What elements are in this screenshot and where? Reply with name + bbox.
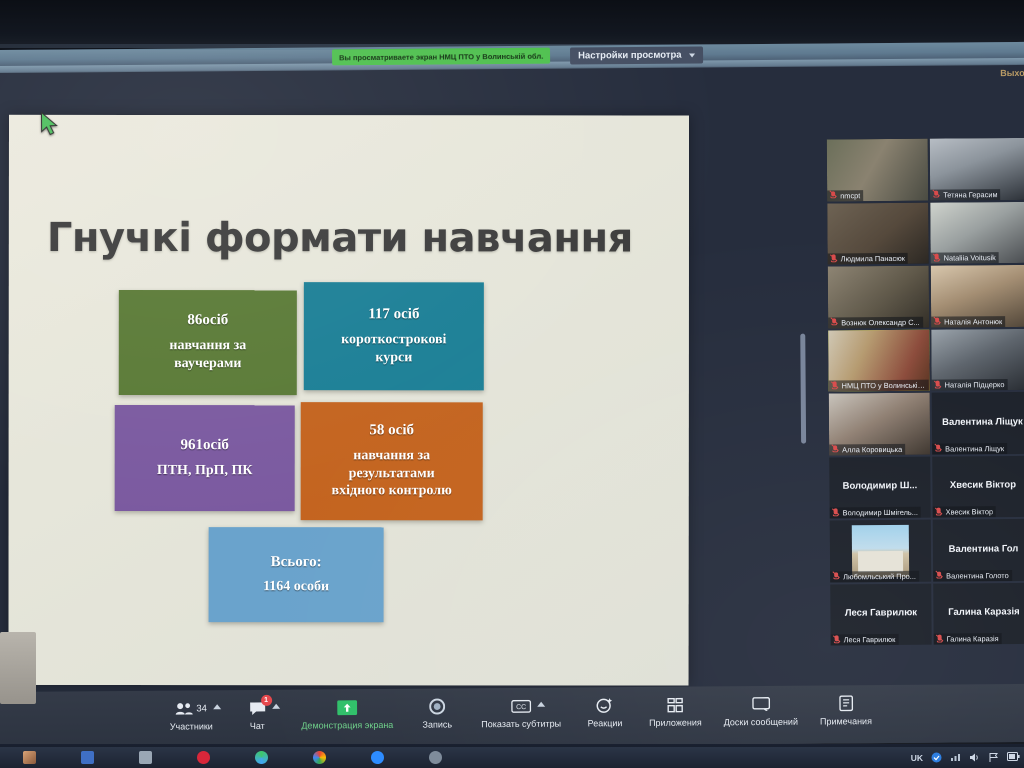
system-tray: UK xyxy=(911,747,1018,768)
participant-tile[interactable]: Валентина ГолВалентина Голото xyxy=(933,519,1024,581)
taskbar-icon-zoom[interactable] xyxy=(348,747,406,768)
toolbar-share-screen-button[interactable]: Демонстрация экрана xyxy=(301,697,393,731)
stat-box-entry-control-number: 58 осіб xyxy=(369,422,414,439)
stat-box-entry-control-label: навчання зарезультатамивхідного контролю xyxy=(332,447,452,501)
participant-name: Галина Каразія xyxy=(947,634,999,643)
toolbar-apps-label: Приложения xyxy=(649,717,702,727)
view-options-button[interactable]: Настройки просмотра xyxy=(570,46,704,64)
presentation-slide: Гнучкі формати навчання 86осіб навчання … xyxy=(9,115,689,686)
toolbar-record-button[interactable]: Запись xyxy=(415,696,459,729)
participant-name: Хвесик Віктор xyxy=(946,507,993,516)
notes-icon xyxy=(839,693,853,713)
taskbar-icon-opera[interactable] xyxy=(174,747,232,768)
flag-icon[interactable] xyxy=(988,752,999,763)
whiteboard-icon xyxy=(752,694,770,714)
participant-name: Наталія Підцерко xyxy=(945,380,1005,389)
taskbar-icon-chrome[interactable] xyxy=(290,747,348,768)
laptop-palmrest xyxy=(0,632,36,704)
taskbar-icon-editor[interactable] xyxy=(116,747,174,768)
participant-name: Людмила Панасюк xyxy=(841,254,905,264)
participant-namebar: Людмила Панасюк xyxy=(828,253,908,265)
cloud-sync-icon[interactable] xyxy=(931,752,942,763)
toolbar-reactions-label: Реакции xyxy=(588,718,623,728)
screen-surface: Вы просматриваете экран НМЦ ПТО у Волинс… xyxy=(0,42,1024,750)
toolbar-chat-label: Чат xyxy=(250,721,265,731)
participant-tile[interactable]: Тетяна Герасим xyxy=(930,138,1024,200)
participant-name: Валентина Ліщук xyxy=(945,444,1004,453)
stat-box-vouchers: 86осіб навчання заваучерами xyxy=(119,290,297,395)
toolbar-captions-button[interactable]: CC Показать субтитры xyxy=(481,696,561,730)
participant-namebar: Nataliia Voitusik xyxy=(931,252,999,264)
participant-name: Тетяна Герасим xyxy=(943,190,997,199)
shared-screen-area: Гнучкі формати навчання 86осіб навчання … xyxy=(9,115,689,686)
stat-box-vouchers-label: навчання заваучерами xyxy=(169,337,246,373)
participant-name-large: Хвесик Віктор xyxy=(932,479,1024,491)
svg-text:CC: CC xyxy=(516,704,526,711)
taskbar-language-indicator[interactable]: UK xyxy=(911,753,923,763)
mic-muted-icon xyxy=(833,572,840,581)
participant-name: Володимир Шмігель... xyxy=(843,508,918,518)
mic-muted-icon xyxy=(834,635,841,644)
participant-namebar: Валентина Ліщук xyxy=(932,443,1007,455)
participant-namebar: Володимир Шмігель... xyxy=(830,507,921,519)
participant-name: Алла Коровицька xyxy=(842,444,902,453)
chevron-down-icon xyxy=(690,53,696,57)
participant-tile[interactable]: Наталія Антонюк xyxy=(931,265,1024,327)
toolbar-whiteboards-button[interactable]: Доски сообщений xyxy=(723,694,798,728)
stat-box-ptn-number: 961осіб xyxy=(181,437,229,454)
participant-tile[interactable]: Людмила Панасюк xyxy=(827,202,928,264)
participant-tile[interactable]: Володимир Ш...Володимир Шмігель... xyxy=(829,456,930,518)
participant-name-large: Валентина Гол xyxy=(933,543,1024,555)
toolbar-chat-button[interactable]: 1 Чат xyxy=(235,698,279,731)
participant-namebar: nmcpt xyxy=(827,190,863,201)
closed-captions-icon: CC xyxy=(511,696,531,716)
os-taskbar: UK xyxy=(0,747,1024,768)
taskbar-icon-start[interactable] xyxy=(0,747,58,768)
mic-muted-icon xyxy=(832,381,839,390)
participant-namebar: НМЦ ПТО у Волинській ... xyxy=(829,380,929,392)
mic-muted-icon xyxy=(831,318,838,327)
stat-box-ptn-label: ПТН, ПрП, ПК xyxy=(157,462,253,480)
toolbar-share-screen-label: Демонстрация экрана xyxy=(301,720,393,731)
participant-name-large: Валентина Ліщук xyxy=(932,416,1024,428)
participant-name-large: Володимир Ш... xyxy=(829,480,930,492)
participant-namebar: Хвесик Віктор xyxy=(933,506,996,517)
apps-icon xyxy=(667,695,683,715)
participant-tile[interactable]: Любомльський Про... xyxy=(830,520,931,582)
mic-muted-icon xyxy=(936,571,943,580)
toolbar-notes-button[interactable]: Примечания xyxy=(820,693,872,726)
participant-namebar: Валентина Голото xyxy=(933,570,1012,582)
toolbar-reactions-button[interactable]: Реакции xyxy=(583,695,627,728)
mic-muted-icon xyxy=(832,445,839,454)
participant-namebar: Вознюк Олександр С... xyxy=(828,316,923,328)
mic-muted-icon xyxy=(937,635,944,644)
zoom-window: Вы просматриваете экран НМЦ ПТО у Волинс… xyxy=(0,42,1024,750)
participant-tile[interactable]: Галина КаразіяГалина Каразія xyxy=(933,582,1024,644)
participant-tile[interactable]: nmcpt xyxy=(827,139,928,201)
participant-name: НМЦ ПТО у Волинській ... xyxy=(842,381,926,391)
participant-tile[interactable]: Вознюк Олександр С... xyxy=(828,266,929,328)
participant-tile[interactable]: Nataliia Voitusik xyxy=(930,201,1024,263)
participant-name: Наталія Антонюк xyxy=(944,317,1002,326)
participants-count: 34 xyxy=(196,703,207,714)
volume-icon[interactable] xyxy=(969,752,980,763)
network-icon[interactable] xyxy=(950,752,961,763)
chat-unread-badge: 1 xyxy=(261,695,272,706)
participant-name: Любомльський Про... xyxy=(843,571,916,581)
monitor-photo: Вы просматриваете экран НМЦ ПТО у Волинс… xyxy=(0,0,1024,768)
chevron-up-icon[interactable] xyxy=(213,704,221,709)
taskbar-icon-misc[interactable] xyxy=(406,747,464,768)
toolbar-captions-label: Показать субтитры xyxy=(481,719,561,730)
mic-muted-icon xyxy=(830,191,837,200)
stat-box-total-number: Всього: xyxy=(271,554,322,571)
participant-name: Леся Гаврилюк xyxy=(844,635,896,644)
participant-grid: nmcptТетяна ГерасимЛюдмила ПанасюкNatali… xyxy=(827,138,1024,705)
exit-meeting-link[interactable]: Выход xyxy=(1000,68,1024,78)
participant-name: Nataliia Voitusik xyxy=(944,253,996,262)
stat-box-total: Всього: 1164 особи xyxy=(209,527,384,622)
participant-tile[interactable]: Валентина ЛіщукВалентина Ліщук xyxy=(932,392,1024,454)
mic-muted-icon xyxy=(936,508,943,517)
mic-muted-icon xyxy=(831,254,838,263)
stat-box-short-courses: 117 осіб короткостроковікурси xyxy=(304,282,484,390)
screen-share-banner-text: Вы просматриваете экран НМЦ ПТО у Волинс… xyxy=(339,51,543,62)
participant-namebar: Наталія Антонюк xyxy=(931,316,1005,328)
toolbar-apps-button[interactable]: Приложения xyxy=(649,694,702,727)
mic-muted-icon xyxy=(935,381,942,390)
page-title: Гнучкі формати навчання xyxy=(47,215,633,262)
participant-name-large: Леся Гаврилюк xyxy=(830,607,931,619)
toolbar-record-label: Запись xyxy=(422,719,452,729)
participant-namebar: Тетяна Герасим xyxy=(930,189,1000,201)
mic-muted-icon xyxy=(934,254,941,263)
toolbar-participants-label: Участники xyxy=(170,721,213,731)
participant-name-large: Галина Каразія xyxy=(933,606,1024,618)
stat-box-short-courses-label: короткостроковікурси xyxy=(341,331,446,367)
chevron-up-icon[interactable] xyxy=(272,704,280,709)
share-screen-icon xyxy=(337,697,357,717)
participant-namebar: Галина Каразія xyxy=(934,633,1002,645)
participant-name: Вознюк Олександр С... xyxy=(841,317,920,327)
stat-box-ptn: 961осіб ПТН, ПрП, ПК xyxy=(115,405,295,511)
mic-muted-icon xyxy=(935,444,942,453)
taskbar-icon-files[interactable] xyxy=(58,747,116,768)
view-options-label: Настройки просмотра xyxy=(578,50,682,62)
toolbar-items: 34 Участники 1 Чат xyxy=(169,693,872,732)
screen-share-banner: Вы просматриваете экран НМЦ ПТО у Волинс… xyxy=(332,48,550,66)
participant-tile[interactable]: Наталія Підцерко xyxy=(931,328,1024,390)
battery-icon[interactable] xyxy=(1007,752,1018,763)
monitor-bezel-top xyxy=(0,0,1024,48)
stat-box-short-courses-number: 117 осіб xyxy=(368,306,419,323)
stat-box-total-label: 1164 особи xyxy=(263,578,329,596)
mic-muted-icon xyxy=(833,508,840,517)
participant-tile[interactable]: Хвесик ВікторХвесик Віктор xyxy=(932,455,1024,517)
reactions-icon xyxy=(596,695,613,715)
chevron-up-icon[interactable] xyxy=(537,702,545,707)
participant-tile[interactable]: Алла Коровицька xyxy=(829,393,930,455)
participant-tile[interactable]: Леся ГаврилюкЛеся Гаврилюк xyxy=(830,583,931,645)
toolbar-notes-label: Примечания xyxy=(820,716,872,726)
participant-tile[interactable]: НМЦ ПТО у Волинській ... xyxy=(828,329,929,391)
participant-name: nmcpt xyxy=(840,191,860,200)
stat-box-vouchers-number: 86осіб xyxy=(187,312,228,329)
taskbar-icon-browser[interactable] xyxy=(232,747,290,768)
chat-icon: 1 xyxy=(249,698,266,718)
toolbar-whiteboards-label: Доски сообщений xyxy=(724,717,798,728)
participant-namebar: Леся Гаврилюк xyxy=(831,634,899,646)
mic-muted-icon xyxy=(934,317,941,326)
participants-icon: 34 xyxy=(175,698,207,718)
toolbar-participants-button[interactable]: 34 Участники xyxy=(169,698,213,731)
participant-namebar: Алла Коровицька xyxy=(829,443,905,455)
sidebar-scrollbar[interactable] xyxy=(800,334,806,444)
mic-muted-icon xyxy=(933,190,940,199)
participant-namebar: Любомльський Про... xyxy=(830,570,919,582)
record-icon xyxy=(429,696,445,716)
participant-namebar: Наталія Підцерко xyxy=(932,379,1008,391)
stat-box-entry-control: 58 осіб навчання зарезультатамивхідного … xyxy=(301,402,483,520)
zoom-toolbar: 34 Участники 1 Чат xyxy=(0,684,1024,750)
participant-name: Валентина Голото xyxy=(946,571,1009,580)
